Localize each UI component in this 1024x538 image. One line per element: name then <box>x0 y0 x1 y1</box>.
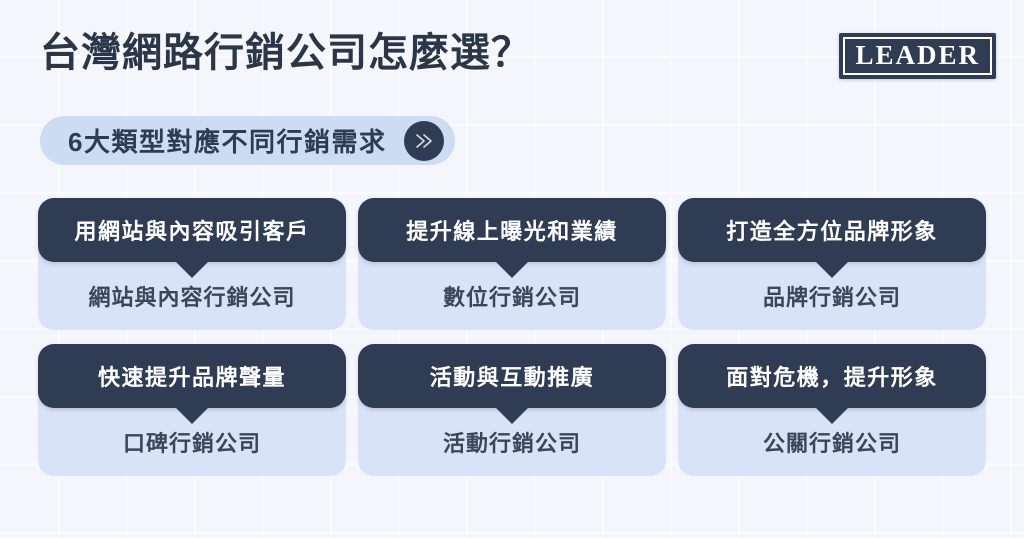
category-card-grid: 網站與內容行銷公司 用網站與內容吸引客戶 數位行銷公司 提升線上曝光和業績 品牌… <box>38 198 986 476</box>
card-header-label: 提升線上曝光和業績 <box>406 214 618 246</box>
card-header: 面對危機，提升形象 <box>678 344 986 408</box>
card-header: 提升線上曝光和業績 <box>358 198 666 262</box>
double-chevron-right-icon <box>404 121 444 161</box>
category-card[interactable]: 數位行銷公司 提升線上曝光和業績 <box>358 198 666 330</box>
card-header-label: 快速提升品牌聲量 <box>98 360 286 392</box>
category-card[interactable]: 品牌行銷公司 打造全方位品牌形象 <box>678 198 986 330</box>
logo-frame: LEADER <box>843 37 992 75</box>
card-body-label: 品牌行銷公司 <box>763 280 901 312</box>
card-header-label: 打造全方位品牌形象 <box>726 214 938 246</box>
card-body-label: 網站與內容行銷公司 <box>88 280 295 312</box>
card-tail-arrow-icon <box>176 262 208 278</box>
card-tail-arrow-icon <box>496 262 528 278</box>
category-card[interactable]: 活動行銷公司 活動與互動推廣 <box>358 344 666 476</box>
subtitle-pill: 6大類型對應不同行銷需求 <box>40 116 455 165</box>
card-header: 快速提升品牌聲量 <box>38 344 346 408</box>
card-body-label: 公關行銷公司 <box>763 426 901 458</box>
logo-wordmark: LEADER <box>855 42 980 69</box>
card-header-label: 面對危機，提升形象 <box>726 360 938 392</box>
card-body-label: 口碑行銷公司 <box>123 426 261 458</box>
subtitle-text: 6大類型對應不同行銷需求 <box>68 122 386 159</box>
card-body-label: 活動行銷公司 <box>443 426 581 458</box>
card-tail-arrow-icon <box>816 262 848 278</box>
card-tail-arrow-icon <box>176 408 208 424</box>
card-header: 活動與互動推廣 <box>358 344 666 408</box>
category-card[interactable]: 網站與內容行銷公司 用網站與內容吸引客戶 <box>38 198 346 330</box>
infographic-canvas: 台灣網路行銷公司怎麼選？ LEADER 6大類型對應不同行銷需求 網站與內容行銷… <box>0 0 1024 538</box>
card-header: 用網站與內容吸引客戶 <box>38 198 346 262</box>
card-body-label: 數位行銷公司 <box>443 280 581 312</box>
card-tail-arrow-icon <box>816 408 848 424</box>
category-card[interactable]: 公關行銷公司 面對危機，提升形象 <box>678 344 986 476</box>
card-header-label: 用網站與內容吸引客戶 <box>74 214 309 246</box>
card-header-label: 活動與互動推廣 <box>430 360 595 392</box>
leader-logo: LEADER <box>839 33 996 79</box>
card-tail-arrow-icon <box>496 408 528 424</box>
page-title: 台灣網路行銷公司怎麼選？ <box>40 30 532 76</box>
card-header: 打造全方位品牌形象 <box>678 198 986 262</box>
category-card[interactable]: 口碑行銷公司 快速提升品牌聲量 <box>38 344 346 476</box>
